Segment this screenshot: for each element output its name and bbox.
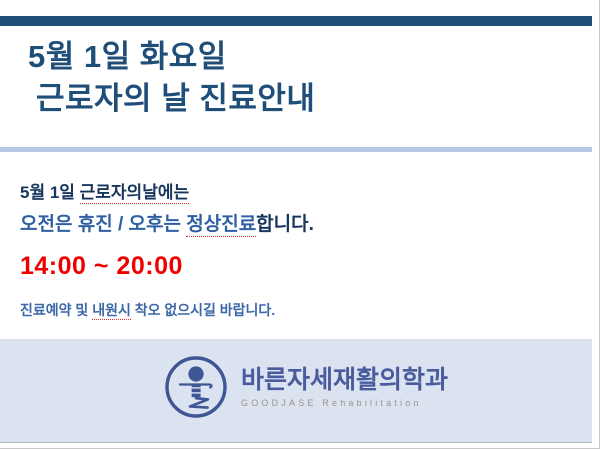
footer-bottom-rule [0,442,592,443]
notice-footnote-spellcheck-word: 내원시 [92,302,131,320]
clinic-logo-text: 바른자세재활의학과 GOODJASE Rehabilitation [241,364,448,410]
notice-footnote: 진료예약 및 내원시 착오 없으시길 바랍니다. [20,300,275,320]
clinic-hours: 14:00 ~ 20:00 [20,252,183,281]
top-accent-rule [0,16,592,26]
notice-footnote-prefix: 진료예약 및 [20,302,92,318]
notice-line-1-prefix: 5월 1일 [20,183,80,202]
notice-line-1-spellcheck-word: 근로자의날에는 [80,183,189,204]
title-divider [0,147,592,152]
clinic-name-english: GOODJASE Rehabilitation [241,396,448,410]
title-line-2: 근로자의 날 진료안내 [28,78,568,120]
spine-figure-icon [163,354,229,420]
page-title: 5월 1일 화요일 근로자의 날 진료안내 [28,36,568,120]
clinic-notice-page: 5월 1일 화요일 근로자의 날 진료안내 5월 1일 근로자의날에는 오전은 … [0,0,600,449]
title-line-1: 5월 1일 화요일 [28,36,568,78]
notice-line-1: 5월 1일 근로자의날에는 [20,178,580,208]
clinic-name-korean: 바른자세재활의학과 [241,366,448,394]
notice-line-2-blue: 오전은 휴진 / 오후는 [20,214,186,235]
notice-body: 5월 1일 근로자의날에는 오전은 휴진 / 오후는 정상진료합니다. [20,178,580,240]
notice-line-2-spellcheck-word: 정상진료 [186,214,256,237]
notice-line-2-dark: 합니다. [256,214,314,235]
clinic-logo: 바른자세재활의학과 GOODJASE Rehabilitation [163,354,448,420]
notice-line-2: 오전은 휴진 / 오후는 정상진료합니다. [20,210,580,240]
notice-footnote-suffix: 착오 없으시길 바랍니다. [131,302,275,318]
